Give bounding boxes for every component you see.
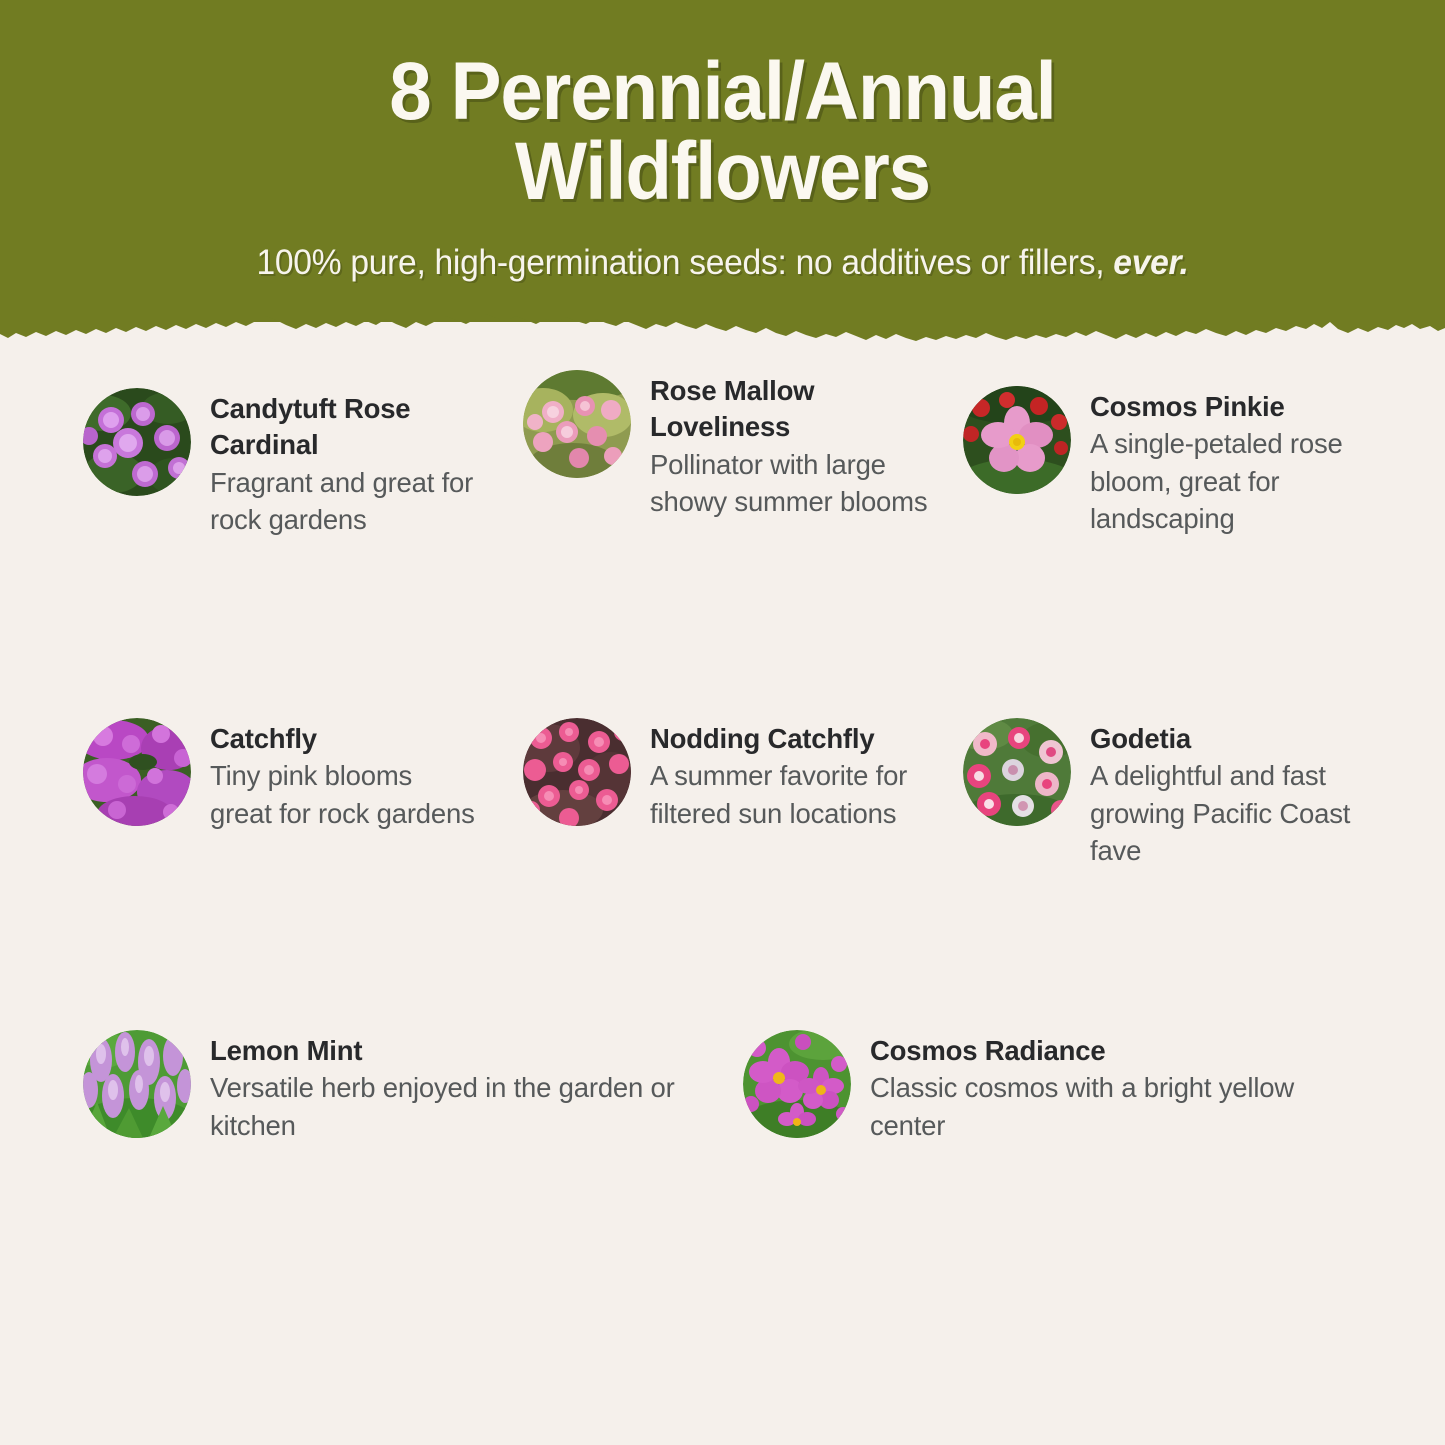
flower-name: Rose Mallow Loveliness [650, 373, 930, 446]
flower-text-block: Cosmos Radiance Classic cosmos with a br… [870, 1030, 1370, 1144]
flower-text-block: Godetia A delightful and fast growing Pa… [1090, 718, 1355, 869]
catchfly-photo-icon [83, 718, 191, 826]
flower-card-rose-mallow-loveliness[interactable]: Rose Mallow Loveliness Pollinator with l… [523, 370, 963, 690]
flower-row: Candytuft Rose Cardinal Fragrant and gre… [0, 360, 1445, 690]
flower-name: Cosmos Radiance [870, 1033, 1370, 1069]
flower-name: Cosmos Pinkie [1090, 389, 1360, 425]
cosmos-radiance-photo-icon [743, 1030, 851, 1138]
godetia-photo-icon [963, 718, 1071, 826]
flower-description: A summer favorite for filtered sun locat… [650, 757, 915, 832]
flower-text-block: Catchfly Tiny pink blooms great for rock… [210, 718, 475, 832]
flower-description: Tiny pink blooms great for rock gardens [210, 757, 475, 832]
page-subtitle-text: 100% pure, high-germination seeds: no ad… [257, 243, 1114, 282]
flower-grid: Candytuft Rose Cardinal Fragrant and gre… [0, 360, 1445, 1220]
flower-name: Catchfly [210, 721, 475, 757]
page-title-line-2: Wildflowers [515, 126, 930, 217]
flower-card-cosmos-radiance[interactable]: Cosmos Radiance Classic cosmos with a br… [743, 1030, 1403, 1220]
flower-card-catchfly[interactable]: Catchfly Tiny pink blooms great for rock… [83, 718, 523, 1020]
header-banner: 8 Perennial/Annual Wildflowers 100% pure… [0, 0, 1445, 322]
flower-text-block: Nodding Catchfly A summer favorite for f… [650, 718, 915, 832]
page-subtitle: 100% pure, high-germination seeds: no ad… [29, 243, 1416, 283]
torn-paper-edge-divider [0, 288, 1445, 346]
lemon-mint-photo-icon [83, 1030, 191, 1138]
page-subtitle-emphasis: ever. [1113, 243, 1188, 282]
rose-mallow-loveliness-photo-icon [523, 370, 631, 478]
nodding-catchfly-photo-icon [523, 718, 631, 826]
flower-description: A single-petaled rose bloom, great for l… [1090, 425, 1360, 537]
flower-text-block: Lemon Mint Versatile herb enjoyed in the… [210, 1030, 710, 1144]
flower-card-godetia[interactable]: Godetia A delightful and fast growing Pa… [963, 718, 1403, 1020]
flower-card-lemon-mint[interactable]: Lemon Mint Versatile herb enjoyed in the… [83, 1030, 743, 1220]
page-title-line-1: 8 Perennial/Annual [389, 46, 1055, 137]
flower-row: Catchfly Tiny pink blooms great for rock… [0, 690, 1445, 1020]
flower-row: Lemon Mint Versatile herb enjoyed in the… [0, 1020, 1445, 1220]
flower-text-block: Cosmos Pinkie A single-petaled rose bloo… [1090, 386, 1360, 537]
flower-card-candytuft-rose-cardinal[interactable]: Candytuft Rose Cardinal Fragrant and gre… [83, 388, 523, 690]
flower-description: A delightful and fast growing Pacific Co… [1090, 757, 1355, 869]
flower-description: Versatile herb enjoyed in the garden or … [210, 1069, 710, 1144]
header-content: 8 Perennial/Annual Wildflowers 100% pure… [0, 0, 1445, 283]
flower-card-nodding-catchfly[interactable]: Nodding Catchfly A summer favorite for f… [523, 718, 963, 1020]
flower-name: Nodding Catchfly [650, 721, 915, 757]
flower-description: Classic cosmos with a bright yellow cent… [870, 1069, 1370, 1144]
flower-name: Candytuft Rose Cardinal [210, 391, 480, 464]
flower-name: Lemon Mint [210, 1033, 710, 1069]
cosmos-pinkie-photo-icon [963, 386, 1071, 494]
page-title: 8 Perennial/Annual Wildflowers [51, 52, 1395, 213]
candytuft-rose-cardinal-photo-icon [83, 388, 191, 496]
flower-name: Godetia [1090, 721, 1355, 757]
flower-description: Fragrant and great for rock gardens [210, 464, 480, 539]
flower-description: Pollinator with large showy summer bloom… [650, 446, 930, 521]
flower-card-cosmos-pinkie[interactable]: Cosmos Pinkie A single-petaled rose bloo… [963, 386, 1403, 690]
flower-text-block: Candytuft Rose Cardinal Fragrant and gre… [210, 388, 480, 538]
flower-text-block: Rose Mallow Loveliness Pollinator with l… [650, 370, 930, 520]
